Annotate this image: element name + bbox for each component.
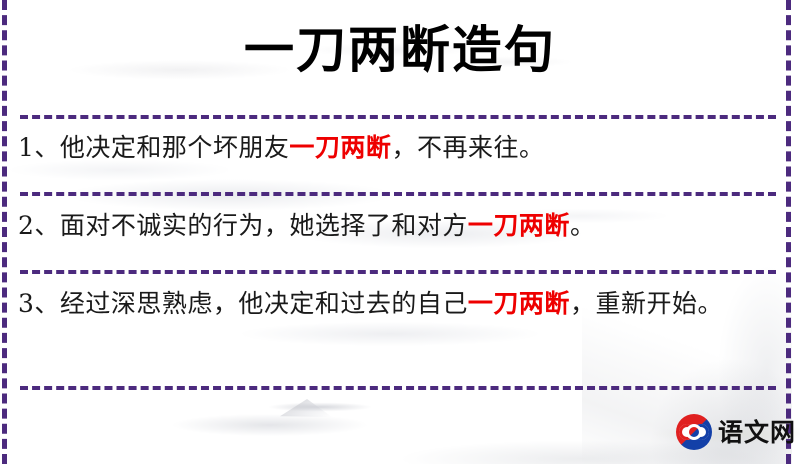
sentence-item-1: 1、他决定和那个坏朋友一刀两断，不再来往。 [18,126,770,170]
sentence-3-text-after: ，重新开始。 [570,289,723,318]
sentence-item-3: 3、经过深思熟虑，他决定和过去的自己一刀两断，重新开始。 [18,282,770,326]
separator-bottom [20,386,776,390]
yinyang-core-icon [686,424,702,440]
sentence-1-number: 1、 [18,133,60,162]
watermark-boat [120,385,440,455]
sentence-1-text-before: 他决定和那个坏朋友 [60,133,290,162]
sentence-2-highlight: 一刀两断 [468,211,570,240]
separator-above-sentence-1 [20,115,776,119]
yinyang-circle-icon [676,414,712,450]
sentence-3-number: 3、 [18,289,60,318]
site-logo[interactable]: 语文网 [676,412,796,452]
sentence-3-text-before: 经过深思熟虑，他决定和过去的自己 [60,289,468,318]
sentence-2-text-before: 面对不诚实的行为，她选择了和对方 [60,211,468,240]
sentence-1-highlight: 一刀两断 [289,133,391,162]
separator-above-sentence-3 [20,270,776,274]
sentence-2-text-after: 。 [570,211,596,240]
site-logo-text: 语文网 [718,420,796,445]
sentence-3-highlight: 一刀两断 [468,289,570,318]
separator-above-sentence-2 [20,192,776,196]
sentence-item-2: 2、面对不诚实的行为，她选择了和对方一刀两断。 [18,204,770,248]
sentence-2-number: 2、 [18,211,60,240]
page-title: 一刀两断造句 [0,22,800,78]
worksheet-page: 一刀两断造句 1、他决定和那个坏朋友一刀两断，不再来往。 2、面对不诚实的行为，… [0,0,800,464]
sentence-1-text-after: ，不再来往。 [391,133,544,162]
